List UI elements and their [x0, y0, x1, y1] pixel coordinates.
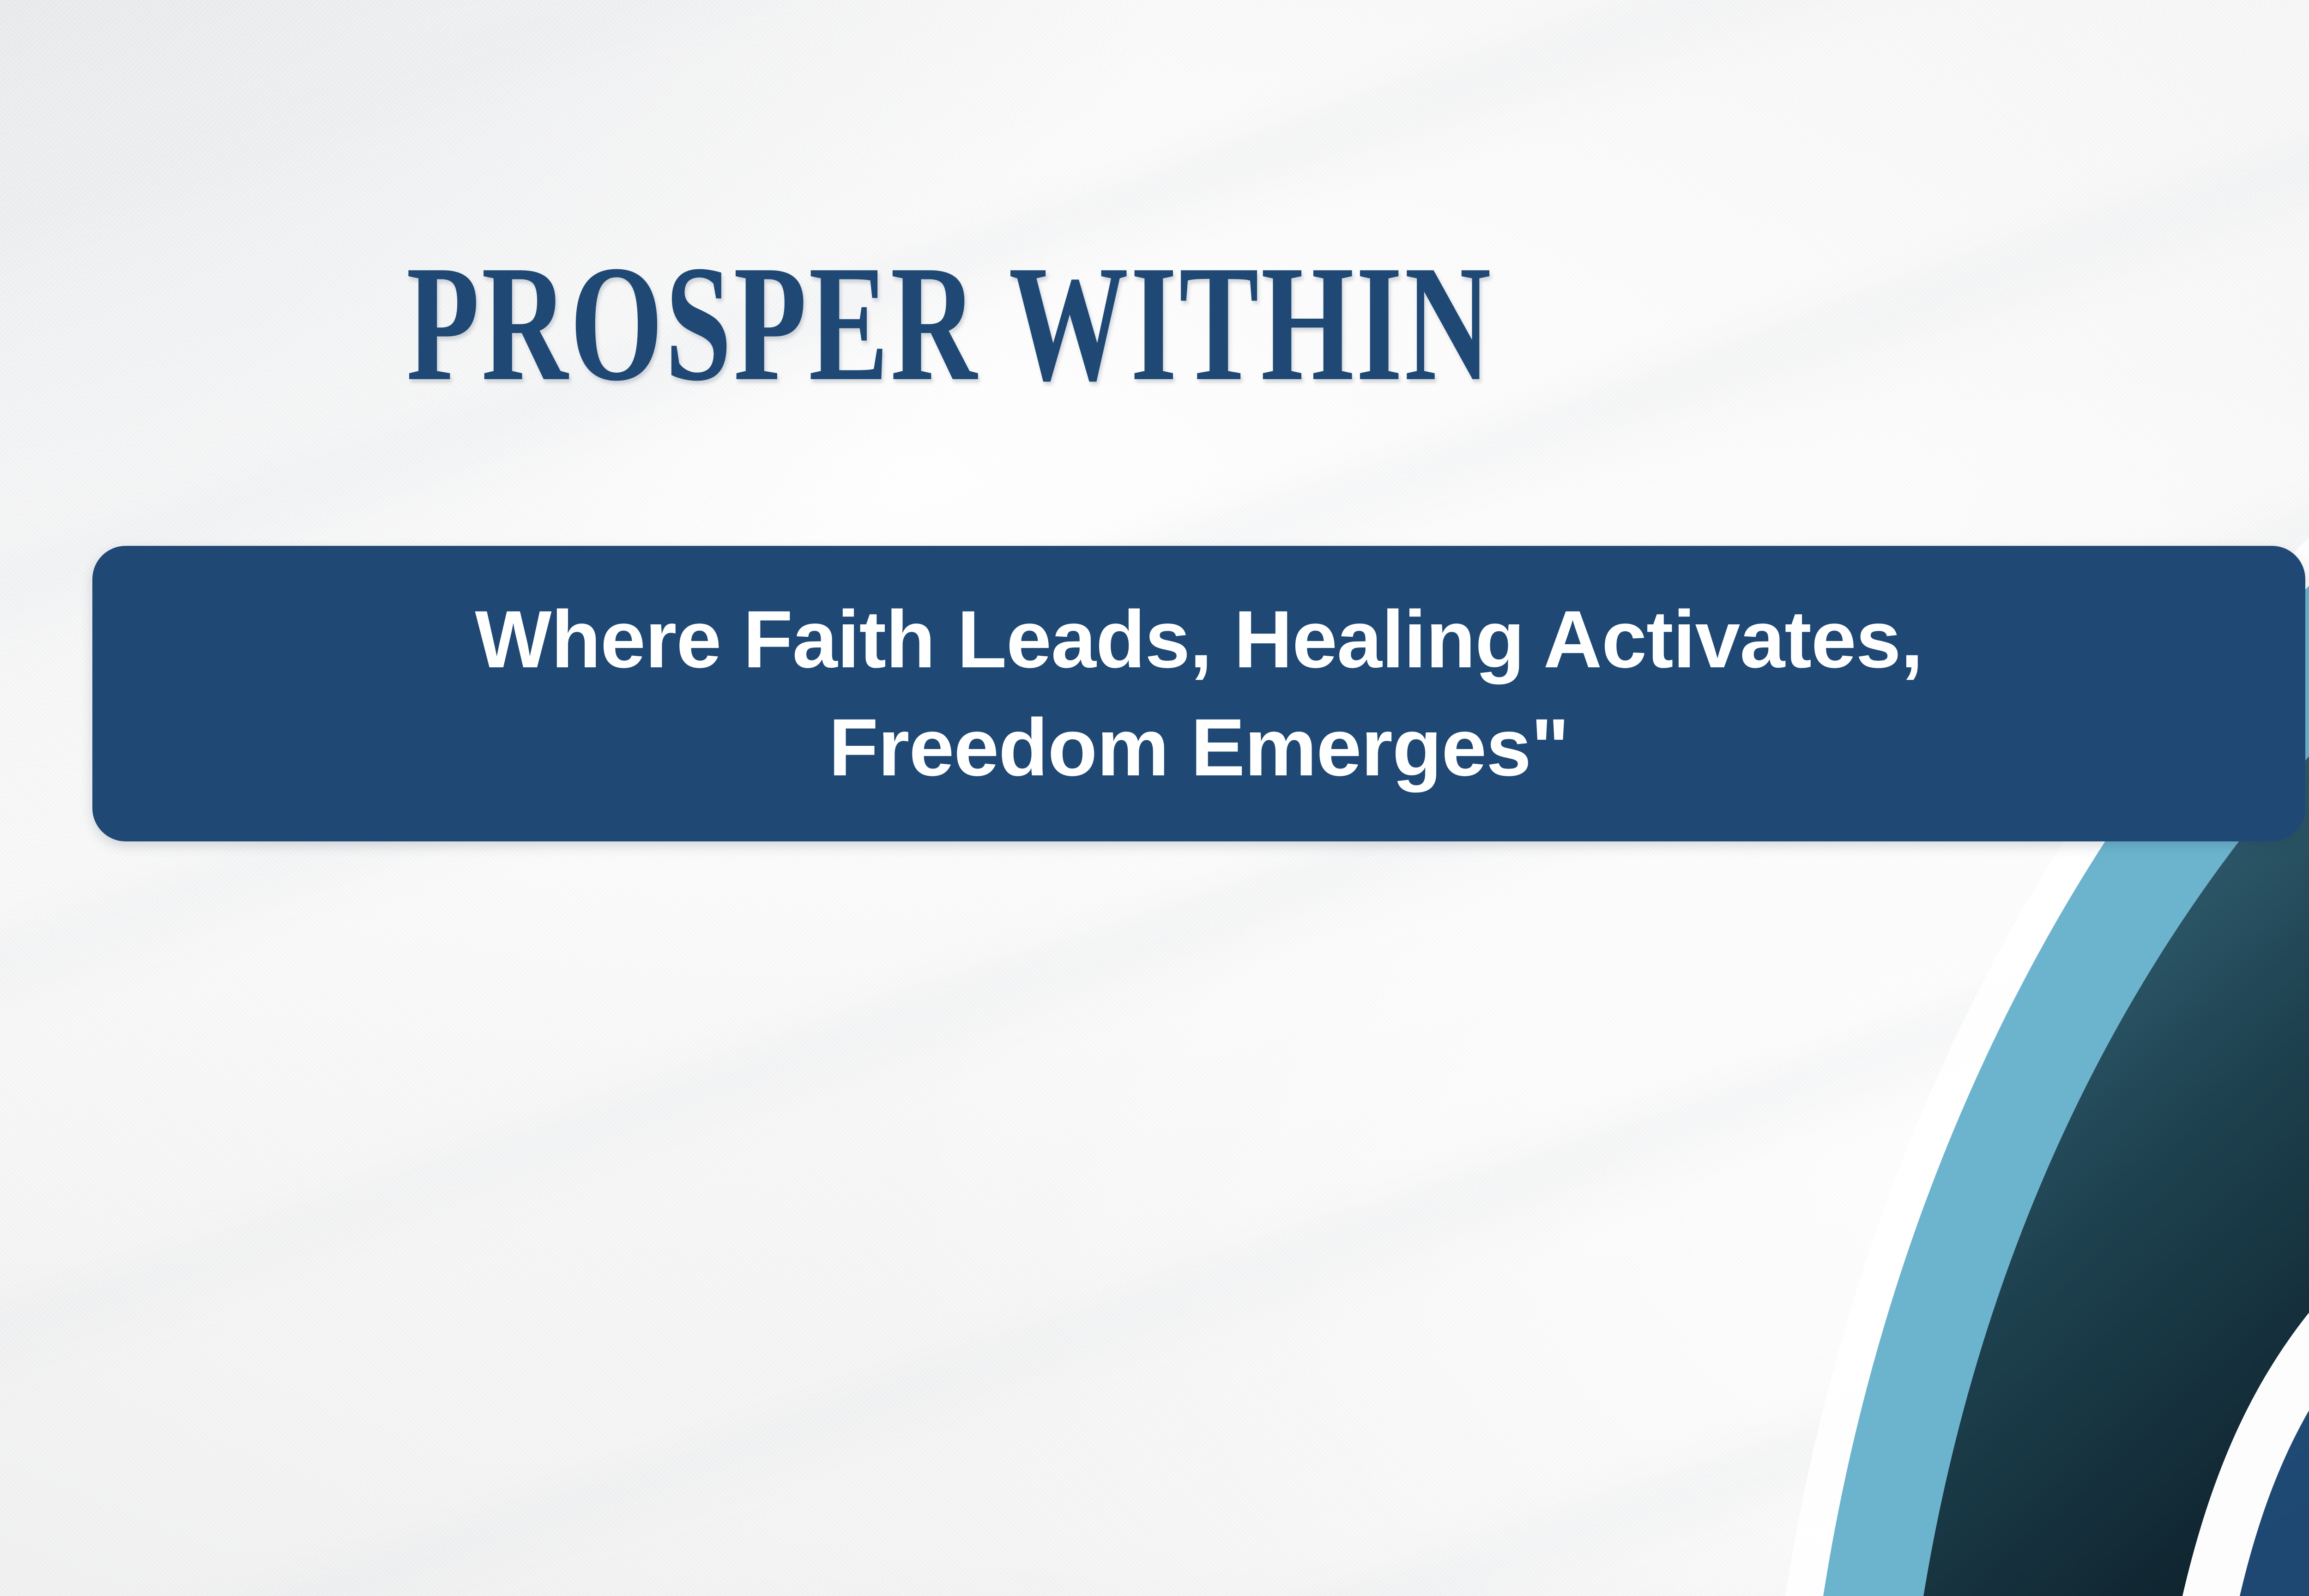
banner-canvas: PROSPER WITHIN Where Faith Leads, Healin… — [0, 0, 2309, 1596]
subtitle-banner: Where Faith Leads, Healing Activates, Fr… — [92, 546, 2305, 841]
subtitle-line-1: Where Faith Leads, Healing Activates, — [475, 586, 1922, 694]
subtitle-line-2: Freedom Emerges" — [828, 694, 1569, 802]
page-title: PROSPER WITHIN — [406, 240, 1504, 406]
